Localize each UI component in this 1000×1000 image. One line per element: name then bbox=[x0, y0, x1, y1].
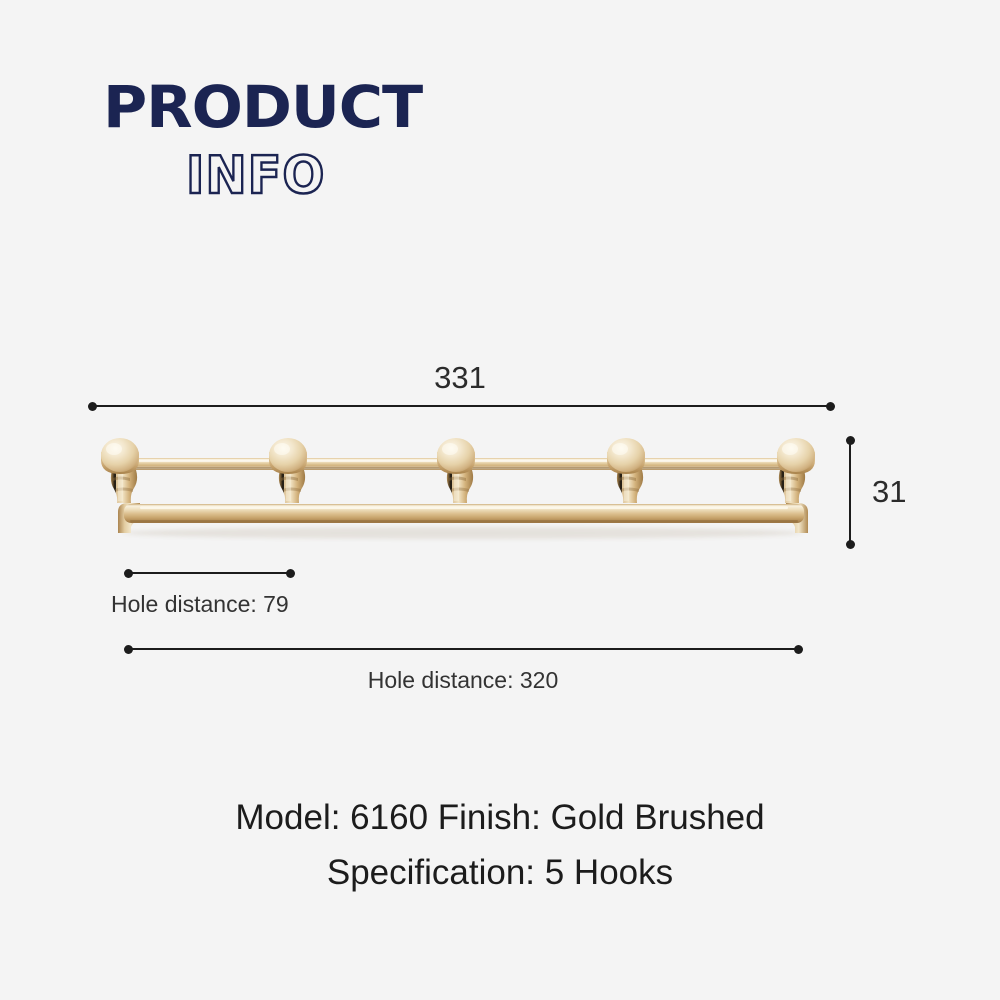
product-shadow bbox=[123, 527, 803, 539]
hook-brackets bbox=[111, 470, 805, 503]
dimension-line-hole-79 bbox=[128, 572, 290, 574]
dimension-label-height: 31 bbox=[872, 474, 906, 510]
lower-rail bbox=[118, 503, 808, 533]
dimension-endpoint-left bbox=[88, 402, 97, 411]
hook-knob bbox=[101, 438, 139, 474]
dimension-line-height bbox=[849, 440, 851, 544]
hook-bracket bbox=[447, 470, 473, 503]
hook-bracket bbox=[279, 470, 305, 503]
spec-line-specification: Specification: 5 Hooks bbox=[0, 853, 1000, 893]
hook-knobs bbox=[101, 438, 815, 474]
spec-line-model-finish: Model: 6160 Finish: Gold Brushed bbox=[0, 798, 1000, 838]
hook-bracket bbox=[617, 470, 643, 503]
dimension-line-width bbox=[92, 405, 832, 407]
hook-knob bbox=[607, 438, 645, 474]
dimension-endpoint-right bbox=[794, 645, 803, 654]
product-info-page: PRODUCT INFO bbox=[0, 0, 1000, 1000]
upper-rail bbox=[112, 458, 802, 470]
dimension-endpoint-left bbox=[124, 645, 133, 654]
hook-bracket bbox=[111, 470, 137, 503]
hook-knob bbox=[269, 438, 307, 474]
page-title-product: PRODUCT bbox=[103, 78, 422, 136]
dimension-endpoint-top bbox=[846, 436, 855, 445]
dimension-endpoint-left bbox=[124, 569, 133, 578]
dimension-line-hole-320 bbox=[128, 648, 798, 650]
dimension-label-hole-320: Hole distance: 320 bbox=[128, 667, 798, 694]
dimension-endpoint-right bbox=[286, 569, 295, 578]
page-title-info: INFO bbox=[186, 148, 325, 205]
dimension-label-hole-79: Hole distance: 79 bbox=[111, 591, 289, 618]
dimension-endpoint-bottom bbox=[846, 540, 855, 549]
dimension-label-width: 331 bbox=[0, 360, 920, 396]
dimension-endpoint-right bbox=[826, 402, 835, 411]
hook-bracket bbox=[779, 470, 805, 503]
hook-knob bbox=[777, 438, 815, 474]
hook-knob bbox=[437, 438, 475, 474]
